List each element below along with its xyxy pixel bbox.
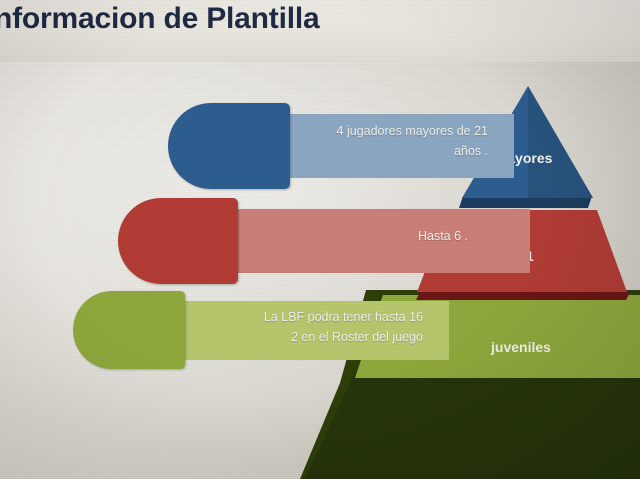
callout-mayores-line1: 4 jugadores mayores de 21	[276, 121, 488, 141]
pyramid-tier-mayores-facet	[528, 86, 593, 198]
callout-mayores-notch	[236, 129, 272, 165]
callout-mayores-line2: años .	[276, 141, 488, 161]
callout-mayores-text: 4 jugadores mayores de 21 años .	[276, 121, 488, 161]
callout-u21-notch	[182, 224, 218, 260]
callout-juveniles: La LBF podra tener hasta 16 2 en el Rost…	[73, 291, 453, 369]
callout-u21-line1: Hasta 6 .	[222, 226, 468, 246]
callout-juveniles-cap	[73, 291, 185, 369]
slide-photo: nformacion de Plantilla Mayores U21 juve…	[0, 0, 640, 479]
callout-juveniles-line2: 2 en el Roster del juego	[173, 327, 423, 347]
callout-u21: Hasta 6 .	[118, 198, 518, 284]
callout-mayores: 4 jugadores mayores de 21 años .	[168, 103, 498, 189]
pyramid-label-juveniles: juveniles	[490, 339, 551, 355]
callout-juveniles-line1: La LBF podra tener hasta 16	[173, 307, 423, 327]
callout-juveniles-notch	[134, 314, 168, 348]
callout-u21-text: Hasta 6 .	[222, 226, 468, 246]
callout-u21-cap	[118, 198, 238, 284]
callout-juveniles-text: La LBF podra tener hasta 16 2 en el Rost…	[173, 307, 423, 347]
